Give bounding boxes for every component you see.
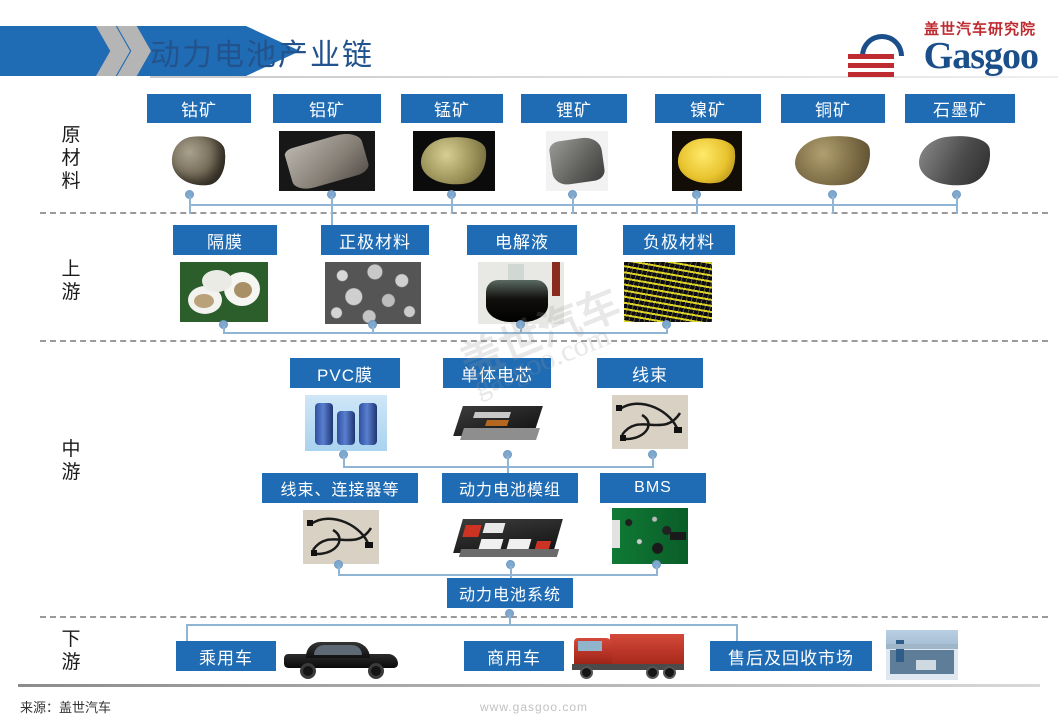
- photo-lithium-ore: [546, 131, 608, 191]
- photo-commercial-truck: [570, 630, 688, 680]
- node-raw-aluminum[interactable]: 铝矿: [273, 94, 381, 123]
- node-raw-cobalt[interactable]: 钴矿: [147, 94, 251, 123]
- connector-line: [343, 466, 654, 468]
- photo-separator: [180, 262, 268, 322]
- harness-illustration: [303, 510, 379, 564]
- gasgoo-logo: 盖世汽车研究院 Gasgoo: [848, 16, 1038, 78]
- stage-label-midstream: 中游: [56, 438, 86, 484]
- photo-cobalt-ore: [168, 131, 230, 191]
- node-raw-nickel[interactable]: 镍矿: [655, 94, 761, 123]
- logo-english-text: Gasgoo: [924, 34, 1038, 78]
- connector-line: [736, 624, 738, 642]
- node-up-cathode[interactable]: 正极材料: [321, 225, 429, 255]
- node-mid-harness-connectors[interactable]: 线束、连接器等: [262, 473, 418, 503]
- connector-line: [186, 624, 738, 626]
- node-mid-pvc-film[interactable]: PVC膜: [290, 358, 400, 388]
- connector-line: [189, 204, 958, 206]
- photo-cathode-material: [325, 262, 421, 324]
- node-down-aftermarket-recycling[interactable]: 售后及回收市场: [710, 641, 872, 671]
- photo-graphite-ore: [915, 131, 995, 191]
- photo-battery-module: [450, 505, 566, 567]
- photo-bms-board: [612, 508, 688, 564]
- node-battery-system[interactable]: 动力电池系统: [447, 578, 573, 608]
- photo-pvc-film: [305, 395, 387, 451]
- connector-line: [186, 624, 188, 642]
- node-raw-copper[interactable]: 铜矿: [781, 94, 885, 123]
- page-title: 动力电池产业链: [150, 30, 374, 74]
- node-mid-cell[interactable]: 单体电芯: [443, 358, 551, 388]
- photo-aluminum-ore: [279, 131, 375, 191]
- photo-anode-material: [624, 262, 712, 322]
- harness-illustration: [612, 395, 688, 449]
- photo-battery-cell: [452, 390, 544, 452]
- section-divider: [40, 616, 1048, 618]
- photo-electrolyte: [478, 262, 564, 324]
- stage-label-raw-materials: 原材料: [56, 124, 86, 193]
- connector-line: [338, 574, 658, 576]
- logo-stripe-icon: [848, 54, 894, 59]
- footer-divider: [18, 684, 1040, 687]
- node-raw-graphite[interactable]: 石墨矿: [905, 94, 1015, 123]
- logo-arc-icon: [860, 34, 904, 56]
- node-up-separator[interactable]: 隔膜: [173, 225, 277, 255]
- photo-wiring-harness: [612, 395, 688, 449]
- connector-line: [223, 332, 668, 334]
- node-raw-manganese[interactable]: 锰矿: [401, 94, 503, 123]
- photo-nickel-ore: [672, 131, 742, 191]
- page-header: 动力电池产业链 盖世汽车研究院 Gasgoo: [0, 0, 1058, 88]
- photo-manganese-ore: [413, 131, 495, 191]
- node-down-passenger-vehicle[interactable]: 乘用车: [176, 641, 276, 671]
- node-raw-lithium[interactable]: 锂矿: [521, 94, 627, 123]
- node-up-anode[interactable]: 负极材料: [623, 225, 735, 255]
- node-mid-battery-module[interactable]: 动力电池模组: [442, 473, 578, 503]
- photo-copper-ore: [791, 131, 875, 191]
- stage-label-downstream: 下游: [56, 628, 86, 674]
- node-up-electrolyte[interactable]: 电解液: [467, 225, 577, 255]
- footer-source-text: 来源：盖世汽车: [20, 697, 111, 716]
- connector-line: [510, 566, 512, 578]
- photo-dealership: [886, 630, 958, 680]
- stage-label-upstream: 上游: [56, 258, 86, 304]
- logo-stripe-icon: [848, 63, 894, 68]
- node-mid-bms[interactable]: BMS: [600, 473, 706, 503]
- photo-passenger-car: [280, 636, 402, 680]
- footer-url-text: www.gasgoo.com: [480, 700, 588, 714]
- section-divider: [40, 340, 1048, 342]
- connector-line: [507, 456, 509, 474]
- photo-harness-connectors: [303, 510, 379, 564]
- logo-stripe-icon: [848, 72, 894, 77]
- node-mid-wiring[interactable]: 线束: [597, 358, 703, 388]
- section-divider: [40, 212, 1048, 214]
- node-down-commercial-vehicle[interactable]: 商用车: [464, 641, 564, 671]
